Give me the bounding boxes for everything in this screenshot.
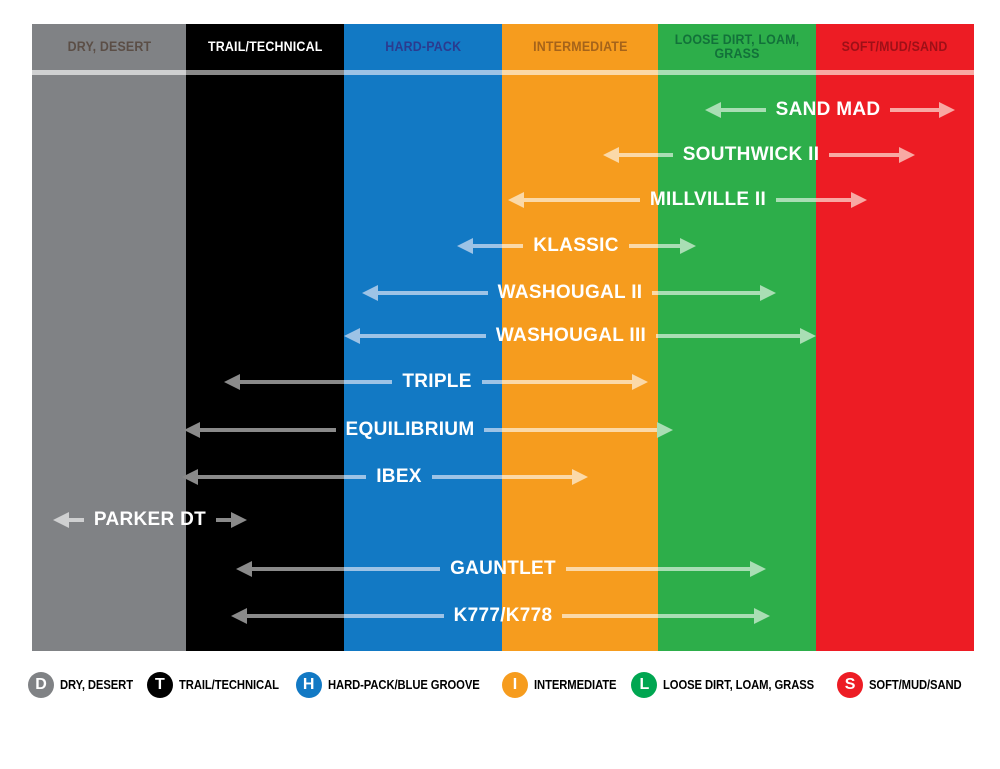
- tire-range-label: IBEX: [366, 464, 432, 490]
- terrain-header-label: INTERMEDIATE: [533, 40, 627, 54]
- terrain-header-label: LOOSE DIRT, LOAM, GRASS: [668, 33, 806, 61]
- arrow-line-segment: [378, 291, 502, 295]
- arrow-line-segment: [502, 380, 632, 384]
- tire-range-label: PARKER DT: [84, 507, 216, 533]
- tire-range-label: SAND MAD: [766, 97, 891, 123]
- arrow-line-segment: [658, 567, 750, 571]
- legend-item[interactable]: TTRAIL/TECHNICAL: [147, 672, 290, 698]
- tire-range-label: EQUILIBRIUM: [336, 417, 485, 443]
- tire-range-row[interactable]: PARKER DT: [0, 507, 1000, 533]
- legend-item[interactable]: IINTERMEDIATE: [502, 672, 626, 698]
- arrow-left-icon: [53, 512, 69, 528]
- arrow-right-icon: [572, 469, 588, 485]
- arrow-right-icon: [939, 102, 955, 118]
- tire-range-row[interactable]: IBEX: [0, 464, 1000, 490]
- tire-range-label: TRIPLE: [392, 369, 481, 395]
- legend-label: HARD-PACK/BLUE GROOVE: [328, 678, 480, 692]
- arrow-right-icon: [851, 192, 867, 208]
- legend-badge-icon: L: [631, 672, 657, 698]
- arrow-left-icon: [603, 147, 619, 163]
- tire-range-label: GAUNTLET: [440, 556, 566, 582]
- tire-range-label: KLASSIC: [523, 233, 629, 259]
- legend-item[interactable]: DDRY, DESERT: [28, 672, 141, 698]
- arrow-left-icon: [231, 608, 247, 624]
- terrain-header-cell: HARD-PACK: [344, 24, 502, 70]
- terrain-header-label: HARD-PACK: [385, 40, 461, 54]
- terrain-header-cell: DRY, DESERT: [32, 24, 186, 70]
- tire-range-row[interactable]: WASHOUGAL III: [0, 323, 1000, 349]
- arrow-line-segment: [502, 428, 657, 432]
- arrow-left-icon: [182, 469, 198, 485]
- tire-range-row[interactable]: KLASSIC: [0, 233, 1000, 259]
- terrain-header-cell: TRAIL/TECHNICAL: [186, 24, 344, 70]
- tire-range-label: WASHOUGAL II: [488, 280, 653, 306]
- arrow-line-segment: [360, 334, 502, 338]
- legend-badge-icon: H: [296, 672, 322, 698]
- tire-range-row[interactable]: TRIPLE: [0, 369, 1000, 395]
- terrain-chart: DRY, DESERTTRAIL/TECHNICALHARD-PACKINTER…: [0, 0, 1000, 769]
- terrain-header-cell: SOFT/MUD/SAND: [816, 24, 974, 70]
- arrow-left-icon: [705, 102, 721, 118]
- legend-label: INTERMEDIATE: [534, 678, 616, 692]
- arrow-line-segment: [240, 380, 344, 384]
- arrow-right-icon: [899, 147, 915, 163]
- arrow-line-segment: [198, 475, 344, 479]
- legend-item[interactable]: SSOFT/MUD/SAND: [837, 672, 972, 698]
- arrow-right-icon: [657, 422, 673, 438]
- arrow-line-segment: [619, 153, 658, 157]
- tire-range-row[interactable]: WASHOUGAL II: [0, 280, 1000, 306]
- arrow-line-segment: [658, 244, 680, 248]
- legend-badge-icon: D: [28, 672, 54, 698]
- arrow-line-segment: [252, 567, 344, 571]
- legend-label: SOFT/MUD/SAND: [869, 678, 962, 692]
- terrain-header-label: DRY, DESERT: [67, 40, 151, 54]
- legend-badge-icon: T: [147, 672, 173, 698]
- arrow-right-icon: [754, 608, 770, 624]
- tire-range-row[interactable]: K777/K778: [0, 603, 1000, 629]
- tire-range-label: MILLVILLE II: [640, 187, 776, 213]
- legend-badge-icon: S: [837, 672, 863, 698]
- terrain-header-label: SOFT/MUD/SAND: [842, 40, 948, 54]
- arrow-line-segment: [473, 244, 502, 248]
- legend-label: TRAIL/TECHNICAL: [179, 678, 279, 692]
- terrain-header-row: DRY, DESERTTRAIL/TECHNICALHARD-PACKINTER…: [32, 24, 974, 70]
- arrow-left-icon: [457, 238, 473, 254]
- arrow-line-segment: [524, 198, 658, 202]
- terrain-header-label: TRAIL/TECHNICAL: [208, 40, 323, 54]
- tire-range-label: SOUTHWICK II: [673, 142, 830, 168]
- arrow-line-segment: [502, 475, 572, 479]
- arrow-line-segment: [658, 291, 760, 295]
- legend-badge-icon: I: [502, 672, 528, 698]
- legend-label: DRY, DESERT: [60, 678, 133, 692]
- legend-item[interactable]: LLOOSE DIRT, LOAM, GRASS: [631, 672, 831, 698]
- terrain-header-cell: LOOSE DIRT, LOAM, GRASS: [658, 24, 816, 70]
- arrow-line-segment: [247, 614, 344, 618]
- arrow-left-icon: [236, 561, 252, 577]
- arrow-line-segment: [658, 334, 800, 338]
- chart-legend: DDRY, DESERTTTRAIL/TECHNICALHHARD-PACK/B…: [28, 668, 972, 702]
- arrow-right-icon: [760, 285, 776, 301]
- arrow-right-icon: [231, 512, 247, 528]
- tire-range-row[interactable]: EQUILIBRIUM: [0, 417, 1000, 443]
- tire-range-label: WASHOUGAL III: [486, 323, 656, 349]
- tire-range-rows: SAND MADSOUTHWICK IIMILLVILLE IIKLASSICW…: [0, 0, 1000, 769]
- tire-range-row[interactable]: SOUTHWICK II: [0, 142, 1000, 168]
- arrow-left-icon: [224, 374, 240, 390]
- arrow-left-icon: [508, 192, 524, 208]
- arrow-line-segment: [658, 614, 754, 618]
- tire-range-label: K777/K778: [444, 603, 563, 629]
- legend-item[interactable]: HHARD-PACK/BLUE GROOVE: [296, 672, 497, 698]
- tire-range-row[interactable]: SAND MAD: [0, 97, 1000, 123]
- arrow-right-icon: [750, 561, 766, 577]
- arrow-left-icon: [362, 285, 378, 301]
- arrow-right-icon: [800, 328, 816, 344]
- arrow-line-segment: [200, 428, 344, 432]
- terrain-header-cell: INTERMEDIATE: [502, 24, 658, 70]
- arrow-left-icon: [184, 422, 200, 438]
- legend-label: LOOSE DIRT, LOAM, GRASS: [663, 678, 814, 692]
- tire-range-row[interactable]: MILLVILLE II: [0, 187, 1000, 213]
- arrow-right-icon: [680, 238, 696, 254]
- arrow-left-icon: [344, 328, 360, 344]
- arrow-line-segment: [816, 198, 851, 202]
- tire-range-row[interactable]: GAUNTLET: [0, 556, 1000, 582]
- arrow-right-icon: [632, 374, 648, 390]
